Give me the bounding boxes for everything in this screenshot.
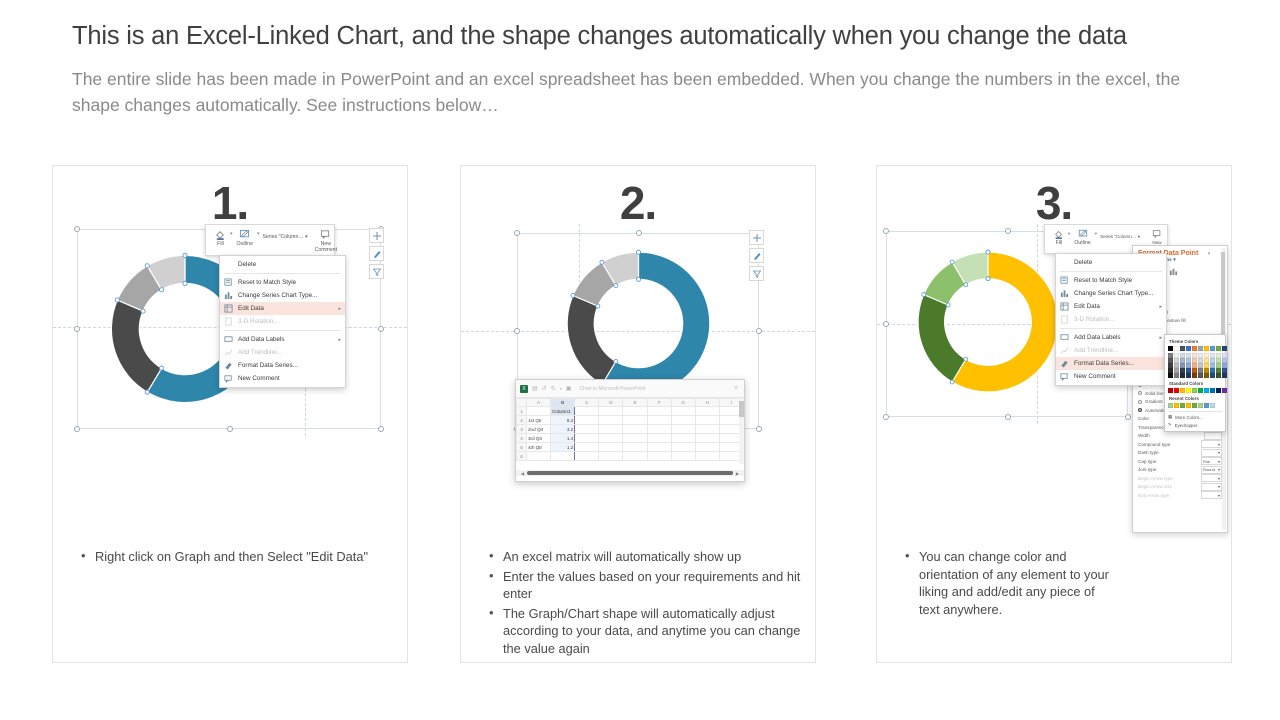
resize-handle-sw[interactable] bbox=[74, 426, 80, 432]
excel-cell[interactable] bbox=[623, 452, 647, 461]
menu-item-add-data-labels[interactable]: Add Data Labels▸ bbox=[1056, 331, 1166, 344]
excel-cell[interactable]: 1.2 bbox=[551, 443, 575, 452]
excel-cell[interactable]: Column1 bbox=[551, 407, 575, 416]
spinner-control[interactable] bbox=[1204, 432, 1222, 440]
menu-item-new-comment[interactable]: New Comment bbox=[220, 372, 345, 385]
resize-handle-s[interactable] bbox=[227, 426, 233, 432]
color-swatch[interactable] bbox=[1174, 403, 1179, 408]
table-row[interactable]: 6 bbox=[517, 452, 744, 461]
comment-icon bbox=[1060, 372, 1069, 381]
chevron-down-icon[interactable]: ▾ bbox=[1218, 450, 1220, 455]
outline-pen-icon bbox=[239, 229, 250, 240]
chevron-down-icon[interactable]: ▾ bbox=[1218, 493, 1220, 498]
table-row[interactable]: 32nd Qtr3.2 bbox=[517, 425, 744, 434]
resize-handle-n[interactable] bbox=[1005, 228, 1011, 234]
chevron-down-icon[interactable]: ▾ bbox=[1218, 484, 1220, 489]
excel-column-header[interactable]: D bbox=[599, 399, 623, 407]
excel-vertical-thumb[interactable] bbox=[739, 401, 744, 417]
more-colors-item[interactable]: ▦ More Colors... bbox=[1168, 414, 1222, 420]
excel-cell[interactable] bbox=[695, 416, 719, 425]
excel-row-header[interactable]: 5 bbox=[517, 443, 527, 452]
color-swatch[interactable] bbox=[1192, 373, 1197, 378]
menu-item-label: Edit Data bbox=[238, 305, 264, 312]
color-swatch[interactable] bbox=[1204, 373, 1209, 378]
undo-icon[interactable]: ↺ bbox=[542, 385, 547, 392]
excel-cell[interactable] bbox=[623, 443, 647, 452]
donut-slice[interactable] bbox=[567, 295, 616, 384]
slice-handle[interactable] bbox=[160, 366, 164, 370]
step-panel-1: 1. bbox=[52, 165, 408, 663]
border-row-width[interactable]: Width bbox=[1138, 432, 1222, 441]
resize-handle-e[interactable] bbox=[756, 328, 762, 334]
series-combo-arrow[interactable]: ▾ bbox=[305, 234, 308, 240]
chart-stage-1: Fill ▾ Outline ▾ Series "Column… ▾ bbox=[53, 224, 407, 564]
slice-handle[interactable] bbox=[636, 250, 640, 254]
excel-cell[interactable] bbox=[671, 434, 695, 443]
submenu-arrow-icon: ▸ bbox=[1159, 304, 1162, 310]
color-swatch[interactable] bbox=[1192, 388, 1197, 393]
fill-bucket-icon bbox=[215, 229, 226, 240]
chart-tool-buttons-1[interactable] bbox=[369, 228, 384, 279]
color-swatch[interactable] bbox=[1180, 403, 1185, 408]
new-comment-button[interactable]: New Comment bbox=[311, 228, 341, 254]
row-label: End Arrow type bbox=[1138, 493, 1201, 498]
combo-control[interactable]: ▾ bbox=[1201, 449, 1222, 457]
slice-handle[interactable] bbox=[596, 304, 600, 308]
chart-elements-icon[interactable] bbox=[749, 230, 764, 245]
table-row[interactable]: 21st Qtr8.2 bbox=[517, 416, 744, 425]
menu-item-new-comment[interactable]: New Comment bbox=[1056, 370, 1166, 383]
color-row[interactable] bbox=[1168, 346, 1222, 351]
border-row-begin-arrow-size: Begin Arrow size▾ bbox=[1138, 483, 1222, 492]
menu-item-label: Format Data Series... bbox=[238, 362, 298, 369]
combo-control[interactable]: Round▾ bbox=[1201, 466, 1222, 474]
menu-item-add-trendline: Add Trendline... bbox=[220, 346, 345, 359]
donut-slice[interactable] bbox=[111, 300, 161, 392]
excel-cell[interactable] bbox=[647, 434, 671, 443]
color-swatch[interactable] bbox=[1180, 388, 1185, 393]
color-swatch[interactable] bbox=[1168, 346, 1173, 351]
context-menu-1[interactable]: DeleteReset to Match StyleChange Series … bbox=[219, 255, 346, 388]
slice-handle[interactable] bbox=[636, 277, 640, 281]
color-swatch[interactable] bbox=[1210, 403, 1215, 408]
excel-cell[interactable] bbox=[647, 407, 671, 416]
color-swatch[interactable] bbox=[1204, 388, 1209, 393]
excel-cell[interactable] bbox=[647, 443, 671, 452]
excel-cell[interactable] bbox=[575, 434, 599, 443]
color-swatch[interactable] bbox=[1186, 403, 1191, 408]
excel-cell[interactable] bbox=[599, 407, 623, 416]
bullet-text: The Graph/Chart shape will automatically… bbox=[503, 606, 800, 656]
reset-style-icon bbox=[224, 278, 233, 287]
excel-cell[interactable] bbox=[599, 443, 623, 452]
excel-cell[interactable] bbox=[575, 443, 599, 452]
chart-styles-icon[interactable] bbox=[749, 248, 764, 263]
excel-sheet-table[interactable]: ABCDEFGHI1Column121st Qtr8.232nd Qtr3.24… bbox=[516, 398, 744, 461]
series-combo[interactable]: Series "Column… ▾ bbox=[259, 228, 310, 240]
excel-cell[interactable]: 8.2 bbox=[551, 416, 575, 425]
series-combo-arrow[interactable]: ▾ bbox=[1138, 234, 1140, 239]
excel-cell[interactable] bbox=[575, 452, 599, 461]
resize-handle-se[interactable] bbox=[1125, 414, 1131, 420]
excel-cell[interactable] bbox=[695, 407, 719, 416]
color-swatch[interactable] bbox=[1204, 346, 1209, 351]
excel-column-header[interactable]: G bbox=[671, 399, 695, 407]
resize-handle-se[interactable] bbox=[756, 426, 762, 432]
excel-cell[interactable]: 1.4 bbox=[551, 434, 575, 443]
color-swatch[interactable] bbox=[1180, 373, 1185, 378]
chart-type-icon bbox=[224, 291, 233, 300]
panel-2-bullets: •An excel matrix will automatically show… bbox=[483, 548, 801, 659]
chart-elements-icon[interactable] bbox=[369, 228, 384, 243]
border-row-join-type[interactable]: Join typeRound▾ bbox=[1138, 466, 1222, 475]
color-row[interactable] bbox=[1168, 373, 1222, 378]
excel-cell[interactable] bbox=[671, 407, 695, 416]
excel-row-header[interactable]: 4 bbox=[517, 434, 527, 443]
color-swatch[interactable] bbox=[1180, 346, 1185, 351]
slice-handle[interactable] bbox=[183, 281, 187, 285]
recent-colors-label: Recent Colors bbox=[1169, 396, 1222, 401]
submenu-arrow-icon: ▸ bbox=[338, 337, 341, 343]
menu-item-change-series-chart-type[interactable]: Change Series Chart Type... bbox=[1056, 287, 1166, 300]
excel-column-header[interactable]: C bbox=[575, 399, 599, 407]
outline-label: Outline bbox=[1074, 240, 1090, 246]
data-labels-icon bbox=[224, 335, 233, 344]
excel-cell[interactable] bbox=[671, 452, 695, 461]
close-icon[interactable]: × bbox=[734, 385, 740, 392]
eyedropper-item[interactable]: ✎ Eyedropper bbox=[1168, 422, 1222, 428]
menu-item-change-series-chart-type[interactable]: Change Series Chart Type... bbox=[220, 289, 345, 302]
color-swatch[interactable] bbox=[1168, 388, 1173, 393]
step-panel-3: 3. bbox=[876, 165, 1232, 663]
resize-handle-w[interactable] bbox=[883, 321, 889, 327]
excel-cell[interactable] bbox=[695, 452, 719, 461]
chart-filters-icon[interactable] bbox=[369, 264, 384, 279]
excel-cell[interactable] bbox=[623, 425, 647, 434]
mini-toolbar-1[interactable]: Fill ▾ Outline ▾ Series "Column… ▾ bbox=[205, 224, 335, 256]
menu-item-label: New Comment bbox=[1074, 373, 1116, 380]
menu-item-format-data-series[interactable]: Format Data Series... bbox=[220, 359, 345, 372]
slice-handle[interactable] bbox=[986, 277, 990, 281]
color-swatch[interactable] bbox=[1216, 388, 1221, 393]
edit-data-icon bbox=[224, 304, 233, 313]
menu-item-delete[interactable]: Delete bbox=[1056, 256, 1166, 269]
excel-cell[interactable] bbox=[575, 416, 599, 425]
excel-cell[interactable] bbox=[623, 416, 647, 425]
slice-handle[interactable] bbox=[614, 359, 618, 363]
table-row[interactable]: 43rd Qtr1.4 bbox=[517, 434, 744, 443]
slice-handle[interactable] bbox=[145, 264, 149, 268]
combo-value: Flat bbox=[1203, 459, 1210, 464]
color-swatch[interactable] bbox=[1192, 346, 1197, 351]
border-row-end-arrow-type: End Arrow type▾ bbox=[1138, 491, 1222, 500]
excel-cell[interactable] bbox=[599, 425, 623, 434]
excel-window[interactable]: X ▤ ↺ ↻ ▾ ▣ Chart in Microsoft PowerPoin… bbox=[515, 379, 745, 482]
color-swatch[interactable] bbox=[1198, 346, 1203, 351]
excel-column-header[interactable]: H bbox=[695, 399, 719, 407]
color-swatch[interactable] bbox=[1192, 403, 1197, 408]
donut-slice[interactable] bbox=[918, 295, 966, 383]
resize-handle-w[interactable] bbox=[74, 326, 80, 332]
outline-label: Outline bbox=[237, 241, 253, 247]
menu-item-label: Add Data Labels bbox=[1074, 334, 1121, 341]
border-row-cap-type[interactable]: Cap typeFlat▾ bbox=[1138, 457, 1222, 466]
row-label: Join type bbox=[1138, 467, 1201, 472]
step-number-2: 2. bbox=[461, 176, 815, 230]
excel-cell[interactable] bbox=[647, 452, 671, 461]
color-swatch[interactable] bbox=[1210, 388, 1215, 393]
slice-handle[interactable] bbox=[964, 357, 968, 361]
collapse-icon[interactable]: ▾ bbox=[1204, 251, 1211, 257]
format-series-icon bbox=[224, 361, 233, 370]
resize-handle-nw[interactable] bbox=[883, 228, 889, 234]
slice-handle[interactable] bbox=[614, 284, 618, 288]
color-swatch[interactable] bbox=[1222, 373, 1227, 378]
combo-control[interactable]: ▾ bbox=[1201, 491, 1222, 499]
rotation-icon bbox=[1060, 315, 1069, 324]
slice-handle[interactable] bbox=[950, 260, 954, 264]
excel-cell[interactable] bbox=[623, 407, 647, 416]
fill-button[interactable]: Fill bbox=[211, 228, 230, 248]
row-label: Cap type bbox=[1138, 459, 1201, 464]
menu-item-edit-data[interactable]: Edit Data▸ bbox=[1056, 300, 1166, 313]
palette-icon: ▦ bbox=[1168, 414, 1172, 420]
excel-cell[interactable] bbox=[599, 434, 623, 443]
menu-item-add-data-labels[interactable]: Add Data Labels▸ bbox=[220, 333, 345, 346]
menu-item-edit-data[interactable]: Edit Data▸ bbox=[220, 302, 345, 315]
color-swatch[interactable] bbox=[1204, 403, 1209, 408]
excel-cell[interactable] bbox=[599, 416, 623, 425]
chevron-down-icon[interactable]: ▾ bbox=[1218, 476, 1220, 481]
border-row-compound-type[interactable]: Compound type▾ bbox=[1138, 440, 1222, 449]
color-swatch[interactable] bbox=[1174, 346, 1179, 351]
excel-horizontal-thumb[interactable] bbox=[527, 471, 733, 475]
excel-row-header[interactable]: 2 bbox=[517, 416, 527, 425]
standard-colors-grid[interactable] bbox=[1168, 388, 1222, 393]
resize-handle-nw[interactable] bbox=[514, 230, 520, 236]
outline-button[interactable]: Outline bbox=[1070, 228, 1094, 247]
excel-cell[interactable]: 2nd Qtr bbox=[527, 425, 551, 434]
donut-chart-2[interactable] bbox=[561, 246, 716, 401]
context-menu-3[interactable]: DeleteReset to Match StyleChange Series … bbox=[1055, 253, 1167, 386]
slice-handle[interactable] bbox=[600, 260, 604, 264]
fill-button[interactable]: Fill bbox=[1050, 228, 1068, 247]
row-label: Dash type bbox=[1138, 450, 1201, 455]
radio-icon[interactable] bbox=[1138, 408, 1142, 412]
redo-icon[interactable]: ↻ bbox=[551, 385, 556, 392]
list-item: •Enter the values based on your requirem… bbox=[503, 568, 801, 603]
color-swatch[interactable] bbox=[1198, 388, 1203, 393]
bullet-icon: • bbox=[905, 547, 910, 565]
excel-cell[interactable] bbox=[695, 425, 719, 434]
refresh-icon[interactable]: ▣ bbox=[566, 385, 572, 392]
scroll-right-icon[interactable]: ▶ bbox=[736, 471, 739, 476]
excel-cell[interactable] bbox=[551, 452, 575, 461]
excel-row-header[interactable]: 6 bbox=[517, 452, 527, 461]
excel-cell[interactable] bbox=[527, 407, 551, 416]
excel-cell[interactable] bbox=[647, 425, 671, 434]
resize-handle-sw[interactable] bbox=[883, 414, 889, 420]
menu-divider bbox=[224, 273, 341, 274]
menu-item-label: 3-D Rotation... bbox=[1074, 316, 1115, 323]
color-picker-popup[interactable]: Theme Colors Standard Colors Recent Colo… bbox=[1164, 334, 1226, 432]
slice-handle[interactable] bbox=[964, 283, 968, 287]
excel-logo-icon: X bbox=[520, 385, 528, 393]
eyedropper-icon: ✎ bbox=[1168, 422, 1172, 428]
slice-handle[interactable] bbox=[183, 253, 187, 257]
eyedropper-label: Eyedropper bbox=[1175, 423, 1198, 428]
table-row[interactable]: 54th Qtr1.2 bbox=[517, 443, 744, 452]
excel-cell[interactable] bbox=[671, 443, 695, 452]
chevron-down-icon[interactable]: ▾ bbox=[1218, 459, 1220, 464]
combo-control[interactable]: Flat▾ bbox=[1201, 457, 1222, 465]
comment-icon bbox=[1152, 229, 1162, 239]
excel-cell[interactable] bbox=[527, 452, 551, 461]
slice-handle[interactable] bbox=[115, 298, 119, 302]
panel-3-bullets: •You can change color and orientation of… bbox=[899, 548, 1114, 620]
slice-handle[interactable] bbox=[950, 380, 954, 384]
excel-cell[interactable] bbox=[599, 452, 623, 461]
excel-column-header[interactable]: A bbox=[527, 399, 551, 407]
color-swatch[interactable] bbox=[1210, 373, 1215, 378]
color-swatch[interactable] bbox=[1186, 388, 1191, 393]
menu-item-label: Edit Data bbox=[1074, 303, 1100, 310]
select-all-corner[interactable] bbox=[517, 399, 527, 407]
color-swatch[interactable] bbox=[1198, 373, 1203, 378]
menu-divider bbox=[1060, 271, 1162, 272]
excel-cell[interactable] bbox=[695, 434, 719, 443]
excel-row-header[interactable]: 3 bbox=[517, 425, 527, 434]
slice-handle[interactable] bbox=[145, 390, 149, 394]
resize-handle-nw[interactable] bbox=[74, 226, 80, 232]
excel-column-header[interactable]: F bbox=[647, 399, 671, 407]
slice-handle[interactable] bbox=[160, 288, 164, 292]
excel-cell[interactable] bbox=[575, 407, 599, 416]
row-label: Begin Arrow size bbox=[1138, 484, 1201, 489]
color-swatch[interactable] bbox=[1210, 346, 1215, 351]
page-subtitle: The entire slide has been made in PowerP… bbox=[72, 66, 1202, 118]
chart-tool-buttons-2[interactable] bbox=[749, 230, 764, 281]
redo-dropdown-arrow[interactable]: ▾ bbox=[560, 386, 562, 391]
color-swatch[interactable] bbox=[1168, 373, 1173, 378]
excel-title-bar[interactable]: X ▤ ↺ ↻ ▾ ▣ Chart in Microsoft PowerPoin… bbox=[516, 380, 744, 398]
excel-cell[interactable]: 4th Qtr bbox=[527, 443, 551, 452]
donut-chart-3[interactable] bbox=[912, 246, 1064, 398]
chart-filters-icon[interactable] bbox=[749, 266, 764, 281]
menu-item-label: 3-D Rotation... bbox=[238, 318, 279, 325]
slice-handle[interactable] bbox=[922, 293, 926, 297]
comment-icon bbox=[320, 229, 331, 240]
excel-cell[interactable] bbox=[671, 416, 695, 425]
color-swatch[interactable] bbox=[1222, 388, 1227, 393]
bullet-icon: • bbox=[489, 604, 494, 622]
step-panel-2: 2. bbox=[460, 165, 816, 663]
resize-handle-s[interactable] bbox=[1005, 414, 1011, 420]
excel-row-header[interactable]: 1 bbox=[517, 407, 527, 416]
chart-stage-3: Fill ▾ Outline ▾ Series "Column… ▾ bbox=[877, 224, 1231, 569]
excel-cell[interactable]: 3.2 bbox=[551, 425, 575, 434]
series-combo-label: Series "Column… bbox=[1100, 234, 1136, 239]
color-swatch[interactable] bbox=[1174, 388, 1179, 393]
excel-cell[interactable]: 1st Qtr bbox=[527, 416, 551, 425]
color-swatch[interactable] bbox=[1168, 403, 1173, 408]
excel-grid[interactable]: ABCDEFGHI1Column121st Qtr8.232nd Qtr3.24… bbox=[516, 398, 744, 470]
series-tab-icon[interactable] bbox=[1169, 267, 1178, 276]
radio-icon[interactable] bbox=[1138, 400, 1142, 404]
resize-handle-se[interactable] bbox=[378, 426, 384, 432]
excel-cell[interactable] bbox=[671, 425, 695, 434]
menu-item-format-data-series[interactable]: Format Data Series... bbox=[1056, 357, 1166, 370]
slice-handle[interactable] bbox=[946, 303, 950, 307]
combo-control[interactable]: ▾ bbox=[1201, 440, 1222, 448]
recent-colors-grid[interactable] bbox=[1168, 403, 1222, 408]
menu-item-label: Add Trendline... bbox=[238, 349, 282, 356]
color-swatch[interactable] bbox=[1216, 373, 1221, 378]
panel-1-bullets: •Right click on Graph and then Select "E… bbox=[75, 548, 393, 568]
bullet-text: Enter the values based on your requireme… bbox=[503, 569, 800, 602]
excel-cell[interactable] bbox=[695, 443, 719, 452]
excel-horizontal-scrollbar[interactable]: ◀ ▶ bbox=[516, 470, 744, 476]
menu-divider bbox=[1060, 328, 1162, 329]
menu-item-label: Add Data Labels bbox=[238, 336, 285, 343]
slice-handle[interactable] bbox=[141, 309, 145, 313]
chevron-down-icon[interactable]: ▾ bbox=[1218, 442, 1220, 447]
theme-colors-grid[interactable] bbox=[1168, 346, 1222, 378]
color-swatch[interactable] bbox=[1186, 346, 1191, 351]
slice-handle[interactable] bbox=[986, 250, 990, 254]
excel-cell[interactable]: 3rd Qtr bbox=[527, 434, 551, 443]
excel-cell[interactable] bbox=[623, 434, 647, 443]
resize-handle-n[interactable] bbox=[636, 230, 642, 236]
outline-button[interactable]: Outline bbox=[233, 228, 257, 248]
resize-handle-w[interactable] bbox=[514, 328, 520, 334]
menu-item-delete[interactable]: Delete bbox=[220, 258, 345, 271]
combo-value: Round bbox=[1203, 467, 1215, 472]
excel-vertical-scrollbar[interactable] bbox=[739, 398, 744, 464]
more-colors-label: More Colors... bbox=[1175, 415, 1203, 420]
chevron-down-icon[interactable]: ▾ bbox=[1218, 467, 1220, 472]
series-combo[interactable]: Series "Column… ▾ bbox=[1097, 228, 1143, 240]
menu-item-reset-to-match-style[interactable]: Reset to Match Style bbox=[220, 276, 345, 289]
series-combo-label: Series "Column… bbox=[262, 234, 303, 240]
excel-column-header[interactable]: E bbox=[623, 399, 647, 407]
color-swatch[interactable] bbox=[1186, 373, 1191, 378]
menu-item-label: Add Trendline... bbox=[1074, 347, 1118, 354]
rotation-icon bbox=[224, 317, 233, 326]
scroll-left-icon[interactable]: ◀ bbox=[521, 471, 524, 476]
menu-item-label: Format Data Series... bbox=[1074, 360, 1134, 367]
chart-styles-icon[interactable] bbox=[369, 246, 384, 261]
resize-handle-e[interactable] bbox=[378, 326, 384, 332]
row-label: Width bbox=[1138, 433, 1204, 438]
excel-cell[interactable] bbox=[575, 425, 599, 434]
excel-column-header[interactable]: B bbox=[551, 399, 575, 407]
color-swatch[interactable] bbox=[1222, 346, 1227, 351]
submenu-arrow-icon: ▸ bbox=[338, 306, 341, 312]
color-swatch[interactable] bbox=[1216, 346, 1221, 351]
color-swatch[interactable] bbox=[1174, 373, 1179, 378]
combo-control[interactable]: ▾ bbox=[1201, 474, 1222, 482]
color-swatch[interactable] bbox=[1198, 403, 1203, 408]
combo-control[interactable]: ▾ bbox=[1201, 483, 1222, 491]
radio-icon[interactable] bbox=[1138, 391, 1142, 395]
slice-handle[interactable] bbox=[571, 293, 575, 297]
table-row[interactable]: 1Column1 bbox=[517, 407, 744, 416]
save-icon[interactable]: ▤ bbox=[532, 385, 538, 392]
excel-cell[interactable] bbox=[647, 416, 671, 425]
border-row-dash-type[interactable]: Dash type▾ bbox=[1138, 449, 1222, 458]
menu-item-reset-to-match-style[interactable]: Reset to Match Style bbox=[1056, 274, 1166, 287]
